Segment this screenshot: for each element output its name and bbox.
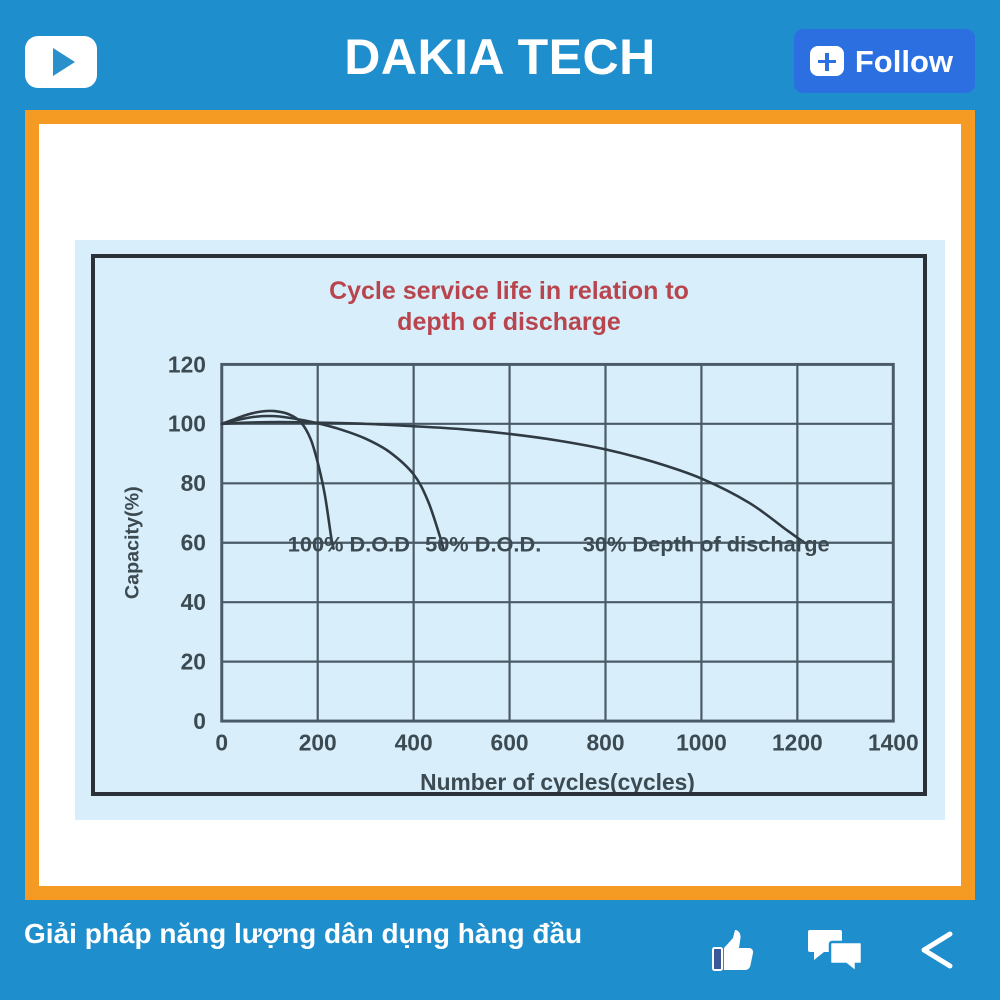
comment-icon[interactable] (808, 926, 864, 974)
x-tick-label: 400 (395, 730, 433, 756)
y-tick-label: 120 (168, 351, 206, 377)
x-tick-label: 1400 (868, 730, 919, 756)
page-title: DAKIA TECH (250, 28, 750, 86)
chart-frame: Cycle service life in relation to depth … (91, 254, 927, 796)
thumbs-up-icon[interactable] (710, 926, 758, 974)
y-tick-label: 0 (193, 708, 206, 734)
content-card-frame: Cycle service life in relation to depth … (25, 110, 975, 900)
plus-square-icon (810, 46, 844, 76)
chart-render-group: 0204060801001200200400600800100012001400… (122, 351, 919, 792)
x-tick-label: 1000 (676, 730, 727, 756)
y-tick-label: 80 (181, 470, 206, 496)
follow-button[interactable]: Follow (794, 29, 975, 93)
plot-area: 0204060801001200200400600800100012001400… (95, 258, 923, 792)
follow-button-label: Follow (855, 46, 953, 77)
y-tick-label: 20 (181, 649, 206, 675)
poster-root: DAKIA TECH Follow Cycle service life in … (0, 0, 1000, 1000)
x-tick-label: 800 (586, 730, 624, 756)
play-button-icon[interactable] (25, 36, 97, 88)
series-annotation: 100% D.O.D (288, 532, 410, 557)
header-bar: DAKIA TECH Follow (0, 0, 1000, 110)
x-tick-label: 200 (299, 730, 337, 756)
y-tick-label: 40 (181, 589, 206, 615)
y-tick-label: 100 (168, 411, 206, 437)
social-actions (710, 926, 960, 974)
chart-panel: Cycle service life in relation to depth … (75, 240, 945, 820)
footer-tagline: Giải pháp năng lượng dân dụng hàng đầu (24, 918, 582, 950)
x-tick-label: 1200 (772, 730, 823, 756)
y-tick-label: 60 (181, 530, 206, 556)
series-annotation: 50% D.O.D. (425, 532, 541, 557)
content-card: Cycle service life in relation to depth … (39, 124, 961, 886)
line-chart-svg: 0204060801001200200400600800100012001400… (95, 258, 923, 792)
share-icon[interactable] (914, 926, 960, 974)
x-tick-label: 600 (491, 730, 529, 756)
y-axis-label: Capacity(%) (122, 486, 144, 599)
x-axis-label: Number of cycles(cycles) (420, 769, 695, 792)
series-annotation: 30% Depth of discharge (583, 532, 830, 557)
x-tick-label: 0 (215, 730, 228, 756)
play-triangle-icon (53, 48, 75, 76)
footer-bar: Giải pháp năng lượng dân dụng hàng đầu (0, 900, 1000, 1000)
